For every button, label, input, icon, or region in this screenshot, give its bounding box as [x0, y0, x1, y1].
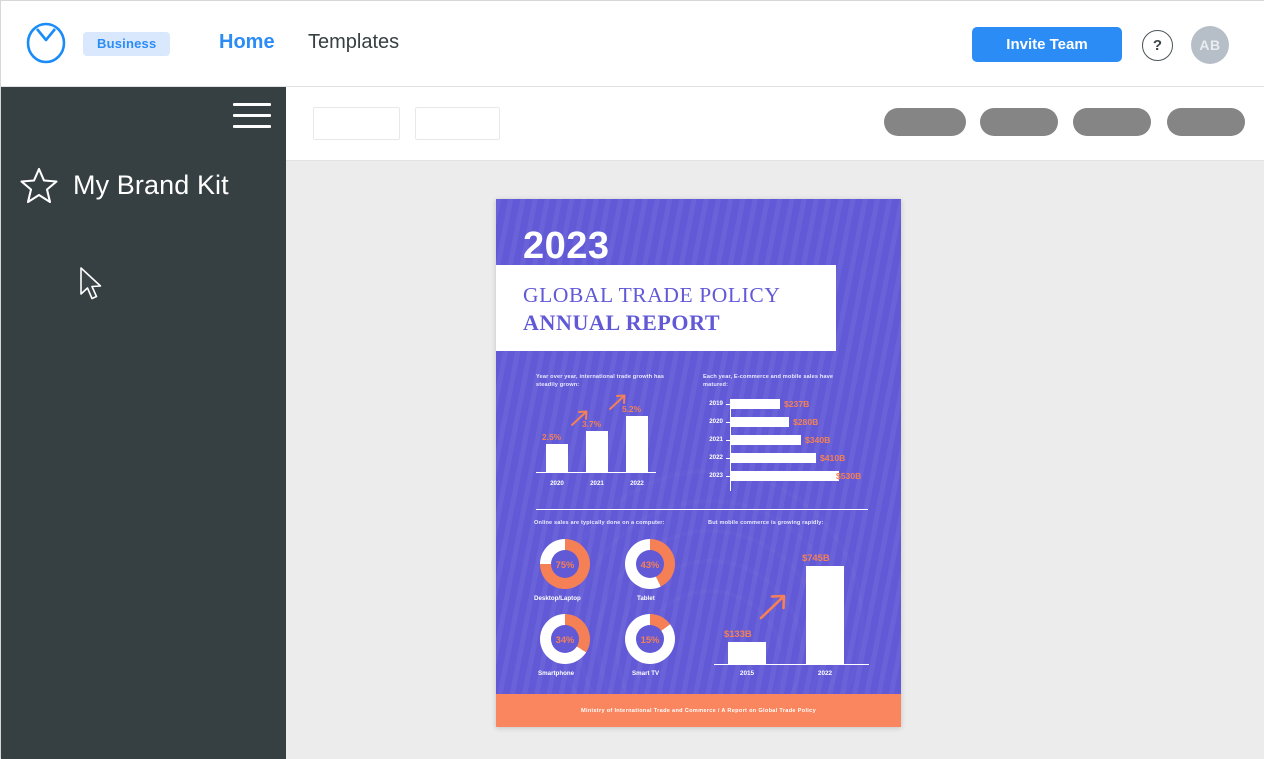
poster-footer: Ministry of International Trade and Comm… [496, 694, 901, 727]
hbar-tick [726, 440, 730, 441]
nav-item-templates[interactable]: Templates [308, 31, 399, 54]
donut-smartphone: 34% [540, 614, 590, 664]
hbar-label-2023: 2023 [703, 472, 723, 479]
hbar-value-2019: $237B [784, 399, 809, 409]
hbar-tick [726, 404, 730, 405]
left-sidebar: My Brand Kit [1, 87, 286, 759]
hbar-label-2019: 2019 [703, 400, 723, 407]
editor-toolbar [286, 87, 1264, 161]
poster-title-band [496, 265, 836, 351]
hbar-value-2020: $280B [793, 417, 818, 427]
donut-value-desktop-laptop: 75% [540, 539, 590, 589]
hbar-label-2020: 2020 [703, 418, 723, 425]
caption-trade-growth: Year over year, international trade grow… [536, 373, 666, 389]
poster-title-line2: ANNUAL REPORT [523, 310, 720, 336]
help-icon[interactable]: ? [1142, 30, 1173, 61]
toolbar-pill-button-3[interactable] [1073, 108, 1151, 136]
hamburger-bar [233, 103, 271, 106]
sidebar-item-my-brand-kit[interactable]: My Brand Kit [1, 157, 286, 213]
hbar-row: 2020 $280B [703, 417, 868, 428]
hamburger-icon[interactable] [233, 103, 271, 137]
hamburger-bar [233, 125, 271, 128]
hbar-tick [726, 422, 730, 423]
caption-mobile-commerce: But mobile commerce is growing rapidly: [708, 519, 868, 527]
hbar-2019 [731, 399, 780, 409]
toolbar-pill-button-1[interactable] [884, 108, 966, 136]
poster-divider [536, 509, 868, 510]
star-icon [19, 165, 59, 205]
poster-footer-text: Ministry of International Trade and Comm… [581, 708, 816, 714]
donut-value-smartphone: 34% [540, 614, 590, 664]
hbar-label-2022: 2022 [703, 454, 723, 461]
bar-label-2020: 2020 [542, 480, 572, 487]
toolbar-placeholder-field-1[interactable] [313, 107, 400, 140]
hamburger-bar [233, 114, 271, 117]
caption-devices: Online sales are typically done on a com… [534, 519, 694, 527]
hbar-2022 [731, 453, 816, 463]
clock-circle-logo-icon[interactable] [25, 21, 67, 65]
design-canvas[interactable]: 2023 GLOBAL TRADE POLICY ANNUAL REPORT Y… [286, 161, 1264, 759]
hbar-row: 2023 $530B [703, 471, 868, 482]
donut-tablet: 43% [625, 539, 675, 589]
donut-label-desktop-laptop: Desktop/Laptop [534, 595, 581, 602]
hbar-row: 2022 $410B [703, 453, 868, 464]
hbar-2020 [731, 417, 789, 427]
hbar-2021 [731, 435, 801, 445]
chart-mobile-commerce: $133B $745B 2015 2022 [708, 529, 873, 679]
hbar-value-2023: $530B [836, 471, 861, 481]
bar-2022 [626, 416, 648, 472]
invite-team-button[interactable]: Invite Team [972, 27, 1122, 62]
bar-label-2015: 2015 [728, 670, 766, 677]
trend-arrow-icon-2 [608, 393, 628, 411]
bar-label-2021: 2021 [582, 480, 612, 487]
hbar-value-2022: $410B [820, 453, 845, 463]
toolbar-placeholder-field-2[interactable] [415, 107, 500, 140]
toolbar-pill-button-4[interactable] [1167, 108, 1245, 136]
donut-label-smart-tv: Smart TV [632, 670, 659, 677]
bar-value-2020: 2.5% [542, 432, 561, 442]
chart-ecommerce-sales: 2019 $237B 2020 $280B 2021 $340B [703, 399, 868, 491]
donut-smart-tv: 15% [625, 614, 675, 664]
trend-arrow-icon-3 [758, 593, 788, 621]
mouse-cursor-icon [79, 267, 105, 301]
donut-value-tablet: 43% [625, 539, 675, 589]
top-header-bar: Business Home Templates Invite Team ? AB [1, 1, 1264, 87]
trend-arrow-icon-1 [570, 409, 590, 427]
donut-value-smart-tv: 15% [625, 614, 675, 664]
chart-trade-growth: 2.5% 3.7% 5.2% 2020 2021 2022 [536, 403, 661, 489]
chart-axis-line [714, 664, 869, 665]
bar-2021 [586, 431, 608, 472]
hbar-value-2021: $340B [805, 435, 830, 445]
bar-label-2022: 2022 [806, 670, 844, 677]
hbar-row: 2019 $237B [703, 399, 868, 410]
sidebar-item-label: My Brand Kit [73, 170, 229, 201]
application-window: Business Home Templates Invite Team ? AB… [0, 0, 1264, 758]
hbar-2023 [731, 471, 839, 481]
poster-document[interactable]: 2023 GLOBAL TRADE POLICY ANNUAL REPORT Y… [496, 199, 901, 727]
bar-2015 [728, 642, 766, 664]
nav-item-home[interactable]: Home [219, 31, 275, 54]
hbar-tick [726, 458, 730, 459]
chart-axis-line [536, 472, 656, 473]
bar-2022 [806, 566, 844, 664]
bar-value-2022: $745B [802, 552, 830, 563]
poster-title-line1: GLOBAL TRADE POLICY [523, 283, 780, 308]
bar-value-2015: $133B [724, 628, 752, 639]
donut-label-smartphone: Smartphone [538, 670, 574, 677]
plan-badge[interactable]: Business [83, 32, 170, 56]
caption-ecommerce: Each year, E-commerce and mobile sales h… [703, 373, 838, 389]
hbar-label-2021: 2021 [703, 436, 723, 443]
hbar-tick [726, 476, 730, 477]
hbar-row: 2021 $340B [703, 435, 868, 446]
poster-year: 2023 [523, 225, 610, 268]
user-avatar[interactable]: AB [1191, 26, 1229, 64]
donut-label-tablet: Tablet [637, 595, 655, 602]
chart-device-share: 75% Desktop/Laptop 43% Tablet 34% Smartp… [534, 529, 694, 679]
bar-label-2022: 2022 [622, 480, 652, 487]
bar-2020 [546, 444, 568, 472]
donut-desktop-laptop: 75% [540, 539, 590, 589]
toolbar-pill-button-2[interactable] [980, 108, 1058, 136]
